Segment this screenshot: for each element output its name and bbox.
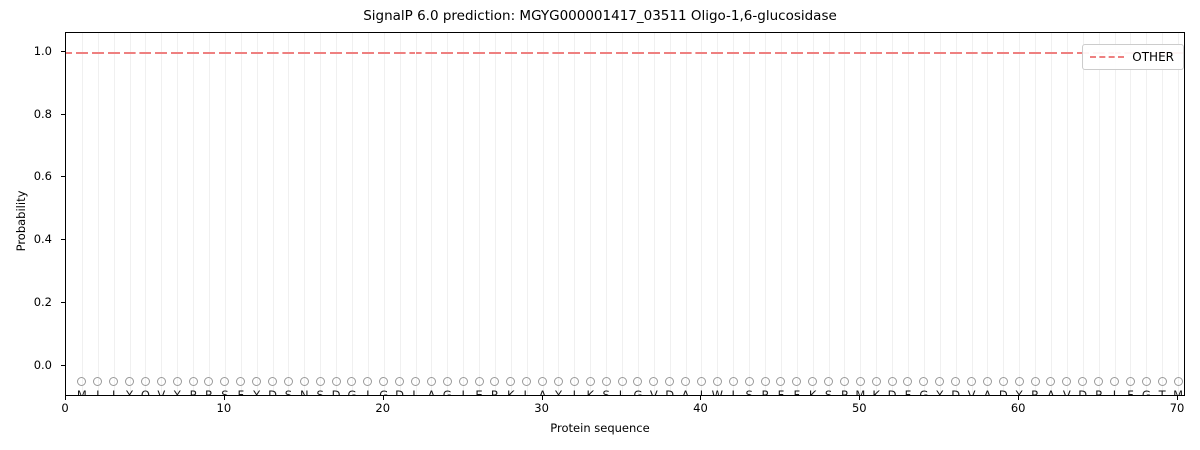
- residue-letter: A: [535, 389, 551, 396]
- y-axis-tick-mark: [61, 51, 65, 52]
- residue-marker: [538, 377, 547, 386]
- residue-letter: W: [709, 389, 725, 396]
- residue-marker: [332, 377, 341, 386]
- residue-marker: [665, 377, 674, 386]
- residue-marker: [761, 377, 770, 386]
- x-axis-tick-label: 40: [680, 401, 720, 415]
- y-axis-tick-mark: [61, 239, 65, 240]
- residue-letter: Y: [122, 389, 138, 396]
- residue-letter: D: [328, 389, 344, 396]
- x-axis-tick-mark: [65, 396, 66, 400]
- x-axis-tick-label: 30: [522, 401, 562, 415]
- residue-letter: F: [233, 389, 249, 396]
- residue-marker: [189, 377, 198, 386]
- residue-marker: [888, 377, 897, 386]
- residue-marker: [824, 377, 833, 386]
- residue-letter: A: [979, 389, 995, 396]
- residue-letter: I: [106, 389, 122, 396]
- x-axis-tick-mark: [224, 396, 225, 400]
- residue-marker: [1094, 377, 1103, 386]
- residue-marker: [77, 377, 86, 386]
- residue-letter: S: [312, 389, 328, 396]
- y-axis-tick-mark: [61, 176, 65, 177]
- residue-letter: Y: [169, 389, 185, 396]
- residue-marker: [745, 377, 754, 386]
- residue-letter: I: [360, 389, 376, 396]
- residue-marker: [1031, 377, 1040, 386]
- signalp-prediction-figure: SignalP 6.0 prediction: MGYG000001417_03…: [0, 0, 1200, 450]
- residue-letter: V: [964, 389, 980, 396]
- x-axis-tick-label: 20: [363, 401, 403, 415]
- residue-marker: [792, 377, 801, 386]
- residue-marker: [1062, 377, 1071, 386]
- residue-letter: S: [821, 389, 837, 396]
- residue-marker: [618, 377, 627, 386]
- residue-letter: P: [836, 389, 852, 396]
- residue-marker: [1174, 377, 1183, 386]
- sequence-marker-layer: MIIYQVYPRSFYDSNSDGIGDLAGIERKLAYIKSLGVDAI…: [66, 33, 1184, 395]
- x-axis-tick-mark: [542, 396, 543, 400]
- residue-marker: [999, 377, 1008, 386]
- residue-marker: [316, 377, 325, 386]
- residue-letter: Y: [249, 389, 265, 396]
- residue-letter: L: [519, 389, 535, 396]
- residue-letter: S: [741, 389, 757, 396]
- residue-letter: I: [693, 389, 709, 396]
- residue-marker: [586, 377, 595, 386]
- residue-marker: [284, 377, 293, 386]
- legend-entry[interactable]: OTHER: [1090, 50, 1174, 64]
- residue-letter: A: [1043, 389, 1059, 396]
- x-axis-label: Protein sequence: [0, 421, 1200, 435]
- residue-marker: [395, 377, 404, 386]
- residue-marker: [983, 377, 992, 386]
- residue-marker: [697, 377, 706, 386]
- residue-marker: [919, 377, 928, 386]
- residue-letter: E: [471, 389, 487, 396]
- residue-letter: Y: [550, 389, 566, 396]
- residue-marker: [808, 377, 817, 386]
- residue-marker: [1110, 377, 1119, 386]
- residue-letter: D: [662, 389, 678, 396]
- residue-marker: [220, 377, 229, 386]
- residue-letter: K: [582, 389, 598, 396]
- y-axis-tick-label: 0.4: [6, 233, 52, 245]
- residue-letter: S: [217, 389, 233, 396]
- residue-marker: [967, 377, 976, 386]
- residue-letter: F: [773, 389, 789, 396]
- x-axis-tick-label: 0: [45, 401, 85, 415]
- residue-letter: K: [503, 389, 519, 396]
- residue-letter: L: [614, 389, 630, 396]
- residue-letter: I: [455, 389, 471, 396]
- x-axis-tick-mark: [1018, 396, 1019, 400]
- residue-marker: [1046, 377, 1055, 386]
- residue-letter: S: [598, 389, 614, 396]
- residue-letter: D: [995, 389, 1011, 396]
- residue-letter: A: [423, 389, 439, 396]
- residue-marker: [840, 377, 849, 386]
- residue-letter: L: [408, 389, 424, 396]
- x-axis-tick-label: 70: [1157, 401, 1197, 415]
- residue-letter: N: [296, 389, 312, 396]
- y-axis-tick-mark: [61, 365, 65, 366]
- residue-letter: I: [90, 389, 106, 396]
- residue-marker: [268, 377, 277, 386]
- residue-marker: [951, 377, 960, 386]
- residue-letter: F: [1122, 389, 1138, 396]
- residue-marker: [443, 377, 452, 386]
- residue-marker: [522, 377, 531, 386]
- residue-letter: M: [1170, 389, 1185, 396]
- residue-letter: K: [805, 389, 821, 396]
- residue-marker: [903, 377, 912, 386]
- residue-letter: V: [153, 389, 169, 396]
- x-axis-tick-mark: [859, 396, 860, 400]
- x-axis-tick-mark: [700, 396, 701, 400]
- residue-letter: I: [725, 389, 741, 396]
- residue-letter: G: [344, 389, 360, 396]
- legend-swatch-icon: [1090, 56, 1124, 58]
- residue-marker: [459, 377, 468, 386]
- y-axis-tick-label: 0.8: [6, 108, 52, 120]
- residue-marker: [681, 377, 690, 386]
- residue-marker: [729, 377, 738, 386]
- residue-marker: [93, 377, 102, 386]
- residue-letter: Y: [932, 389, 948, 396]
- residue-marker: [1078, 377, 1087, 386]
- residue-letter: R: [487, 389, 503, 396]
- residue-marker: [633, 377, 642, 386]
- residue-letter: V: [646, 389, 662, 396]
- residue-letter: K: [868, 389, 884, 396]
- residue-marker: [1158, 377, 1167, 386]
- residue-letter: S: [280, 389, 296, 396]
- residue-marker: [300, 377, 309, 386]
- residue-marker: [141, 377, 150, 386]
- residue-marker: [157, 377, 166, 386]
- residue-letter: I: [566, 389, 582, 396]
- residue-letter: I: [1107, 389, 1123, 396]
- residue-marker: [347, 377, 356, 386]
- residue-letter: D: [948, 389, 964, 396]
- residue-marker: [570, 377, 579, 386]
- y-axis-tick-label: 0.6: [6, 170, 52, 182]
- residue-marker: [1142, 377, 1151, 386]
- x-axis-tick-mark: [383, 396, 384, 400]
- x-axis-tick-label: 10: [204, 401, 244, 415]
- residue-marker: [506, 377, 515, 386]
- residue-letter: G: [439, 389, 455, 396]
- residue-letter: D: [392, 389, 408, 396]
- residue-marker: [776, 377, 785, 386]
- residue-letter: P: [1091, 389, 1107, 396]
- residue-letter: G: [630, 389, 646, 396]
- residue-marker: [1126, 377, 1135, 386]
- residue-marker: [649, 377, 658, 386]
- residue-marker: [554, 377, 563, 386]
- residue-letter: R: [1027, 389, 1043, 396]
- y-axis-tick-mark: [61, 302, 65, 303]
- residue-letter: V: [1059, 389, 1075, 396]
- residue-marker: [379, 377, 388, 386]
- legend-label: OTHER: [1132, 50, 1174, 64]
- residue-marker: [1015, 377, 1024, 386]
- residue-letter: M: [852, 389, 868, 396]
- residue-marker: [204, 377, 213, 386]
- residue-letter: M: [74, 389, 90, 396]
- residue-letter: F: [900, 389, 916, 396]
- residue-marker: [411, 377, 420, 386]
- residue-marker: [856, 377, 865, 386]
- residue-letter: P: [757, 389, 773, 396]
- residue-marker: [713, 377, 722, 386]
- x-axis-tick-mark: [1177, 396, 1178, 400]
- chart-title: SignalP 6.0 prediction: MGYG000001417_03…: [0, 8, 1200, 24]
- y-axis-tick-label: 1.0: [6, 45, 52, 57]
- residue-marker: [173, 377, 182, 386]
- residue-marker: [109, 377, 118, 386]
- residue-letter: A: [678, 389, 694, 396]
- residue-letter: D: [265, 389, 281, 396]
- x-axis-tick-label: 50: [839, 401, 879, 415]
- residue-marker: [236, 377, 245, 386]
- residue-marker: [475, 377, 484, 386]
- residue-letter: Q: [137, 389, 153, 396]
- residue-letter: F: [789, 389, 805, 396]
- residue-marker: [252, 377, 261, 386]
- plot-area: MIIYQVYPRSFYDSNSDGIGDLAGIERKLAYIKSLGVDAI…: [65, 32, 1185, 396]
- residue-letter: T: [1154, 389, 1170, 396]
- residue-letter: R: [201, 389, 217, 396]
- x-axis-tick-label: 60: [998, 401, 1038, 415]
- residue-letter: G: [376, 389, 392, 396]
- residue-marker: [490, 377, 499, 386]
- residue-marker: [872, 377, 881, 386]
- residue-letter: G: [916, 389, 932, 396]
- residue-letter: G: [1138, 389, 1154, 396]
- y-axis-tick-label: 0.0: [6, 359, 52, 371]
- residue-marker: [363, 377, 372, 386]
- residue-letter: Y: [1011, 389, 1027, 396]
- residue-marker: [935, 377, 944, 386]
- residue-letter: D: [1075, 389, 1091, 396]
- residue-marker: [427, 377, 436, 386]
- residue-marker: [602, 377, 611, 386]
- y-axis-tick-label: 0.2: [6, 296, 52, 308]
- residue-letter: P: [185, 389, 201, 396]
- residue-marker: [125, 377, 134, 386]
- y-axis-tick-mark: [61, 114, 65, 115]
- legend[interactable]: OTHER: [1082, 44, 1184, 70]
- residue-letter: D: [884, 389, 900, 396]
- y-axis-label: Probability: [14, 121, 28, 321]
